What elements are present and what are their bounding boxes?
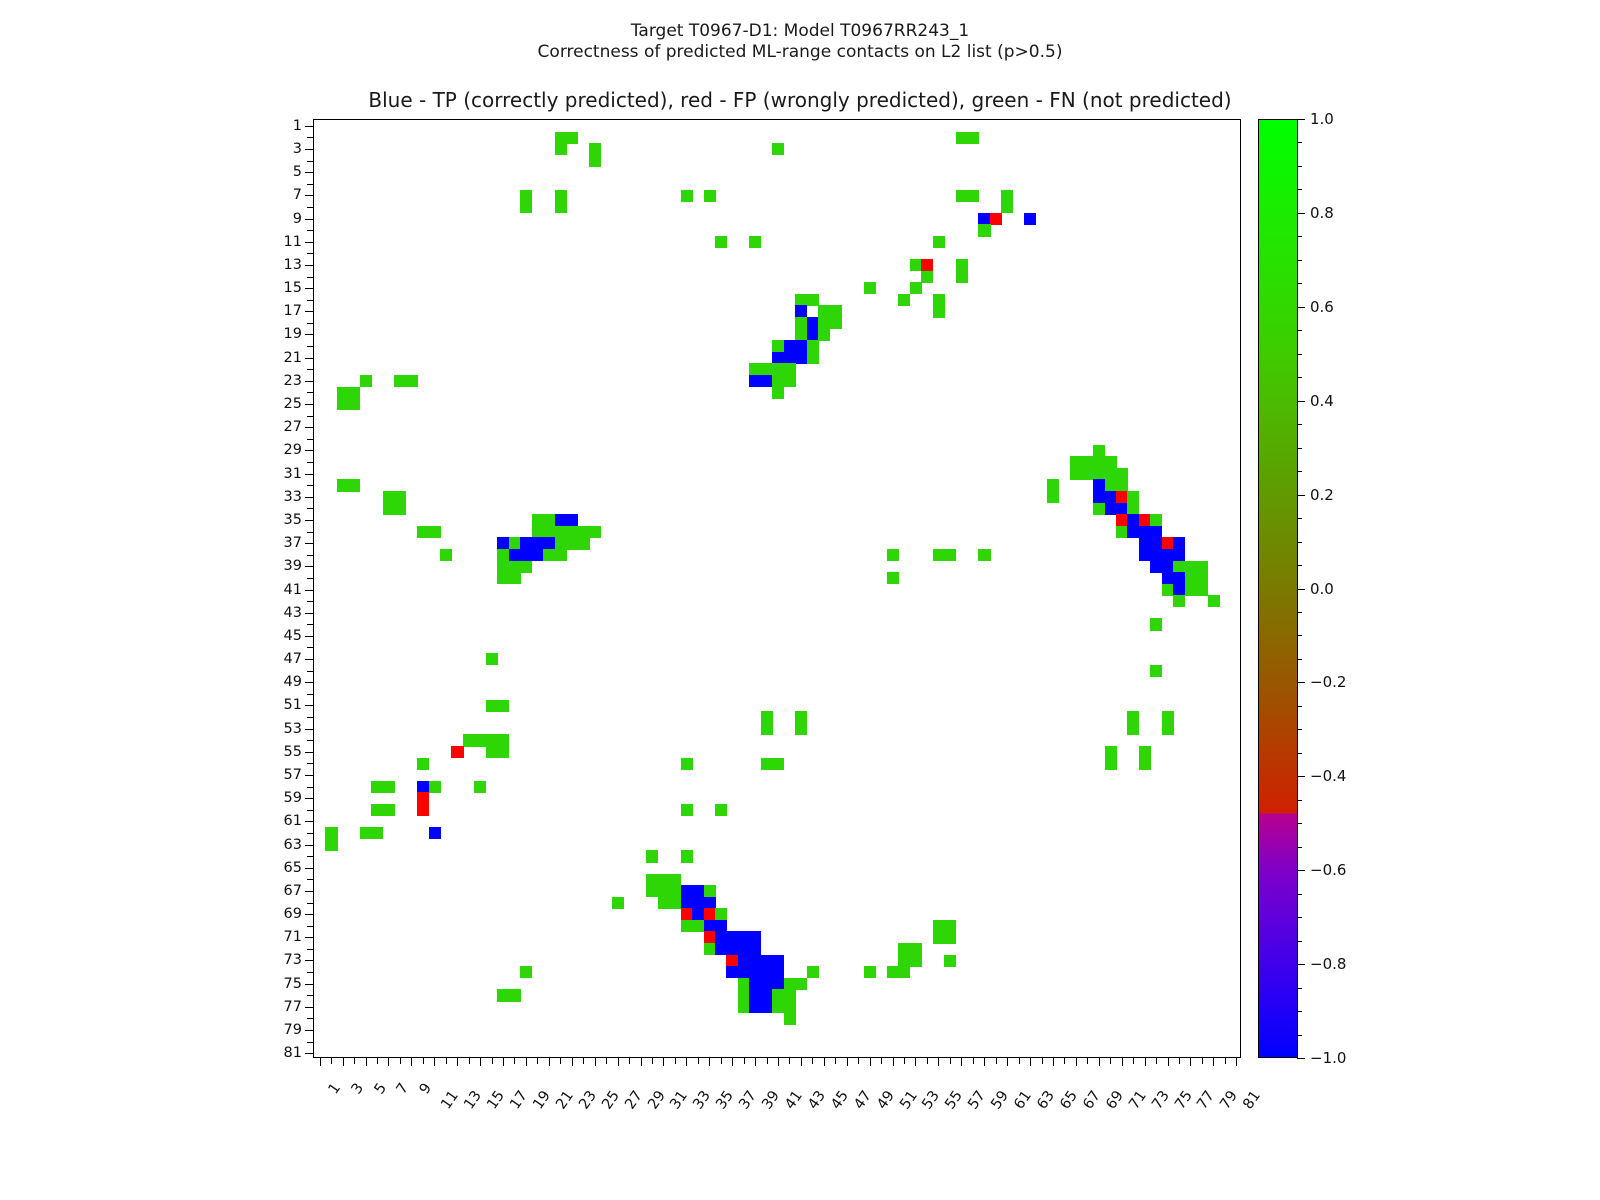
x-tick <box>778 1057 779 1066</box>
y-tick <box>307 833 314 834</box>
heatmap-cell-fn <box>486 734 498 746</box>
heatmap-cell-fp <box>921 259 933 271</box>
y-tick <box>305 149 314 150</box>
x-tick <box>641 1057 642 1066</box>
y-tick-label: 31 <box>284 466 302 482</box>
heatmap-cell-tp <box>761 375 773 387</box>
x-tick-label: 69 <box>1103 1088 1127 1112</box>
x-tick <box>1168 1057 1169 1066</box>
y-tick <box>305 265 314 266</box>
y-tick-label: 19 <box>284 326 302 342</box>
heatmap-cell-fn <box>509 537 521 549</box>
x-tick <box>1236 1057 1237 1066</box>
y-tick <box>305 358 314 359</box>
heatmap-cell-fn <box>772 363 784 375</box>
x-tick <box>698 1057 699 1064</box>
heatmap-cell-tp <box>715 920 727 932</box>
heatmap-cell-fn <box>520 966 532 978</box>
colorbar-minor-tick <box>1297 635 1302 636</box>
y-tick <box>307 184 314 185</box>
heatmap-cell-fn <box>898 955 910 967</box>
heatmap-cell-fn <box>898 294 910 306</box>
colorbar-minor-tick <box>1297 495 1302 496</box>
heatmap-cell-fn <box>1185 584 1197 596</box>
y-tick <box>307 323 314 324</box>
y-tick <box>305 821 314 822</box>
heatmap-cell-tp <box>704 920 716 932</box>
heatmap-cell-fn <box>784 1013 796 1025</box>
heatmap-cell-fn <box>807 966 819 978</box>
y-tick-label: 29 <box>284 442 302 458</box>
x-tick <box>514 1057 515 1064</box>
heatmap-cell-fn <box>348 398 360 410</box>
heatmap-cell-fn <box>532 526 544 538</box>
heatmap-cell-fn <box>1105 746 1117 758</box>
x-tick <box>1042 1057 1043 1064</box>
heatmap-cell-fn <box>646 885 658 897</box>
y-tick <box>305 775 314 776</box>
colorbar-minor-tick <box>1297 1011 1302 1012</box>
y-tick <box>305 1030 314 1031</box>
heatmap-cell-fn <box>1093 503 1105 515</box>
heatmap-cell-fn <box>406 375 418 387</box>
colorbar-minor-tick <box>1297 166 1302 167</box>
heatmap-cell-tp <box>532 549 544 561</box>
heatmap-cell-fn <box>956 190 968 202</box>
heatmap-cell-fn <box>944 920 956 932</box>
x-tick-label: 81 <box>1241 1088 1265 1112</box>
x-tick <box>1030 1057 1031 1066</box>
x-tick-label: 5 <box>371 1081 389 1098</box>
heatmap-cell-fn <box>566 537 578 549</box>
y-tick <box>307 508 314 509</box>
heatmap-cell-fn <box>795 294 807 306</box>
x-tick <box>915 1057 916 1066</box>
y-tick <box>307 624 314 625</box>
heatmap-cell-fn <box>555 526 567 538</box>
y-tick <box>305 613 314 614</box>
heatmap-cell-tp <box>1093 479 1105 491</box>
heatmap-cell-fn <box>704 885 716 897</box>
y-tick-label: 27 <box>284 419 302 435</box>
colorbar-tick-label: 1.0 <box>1310 110 1334 128</box>
heatmap-cell-tp <box>784 352 796 364</box>
heatmap-cell-fn <box>795 723 807 735</box>
y-tick <box>305 682 314 683</box>
x-tick <box>961 1057 962 1066</box>
heatmap-cell-fn <box>543 549 555 561</box>
y-tick <box>307 647 314 648</box>
heatmap-cell-fn <box>681 920 693 932</box>
y-tick-label: 37 <box>284 535 302 551</box>
heatmap-cell-tp <box>1127 514 1139 526</box>
heatmap-cell-tp <box>749 1001 761 1013</box>
heatmap-cell-fn <box>394 491 406 503</box>
heatmap-cell-fn <box>417 758 429 770</box>
heatmap-cell-fp <box>451 746 463 758</box>
heatmap-cell-fn <box>1116 479 1128 491</box>
heatmap-cell-fn <box>497 700 509 712</box>
x-tick <box>549 1057 550 1066</box>
y-tick <box>307 485 314 486</box>
heatmap-cell-fn <box>348 387 360 399</box>
colorbar-minor-tick <box>1297 542 1302 543</box>
y-tick <box>305 960 314 961</box>
heatmap-cell-fn <box>898 943 910 955</box>
heatmap-cell-fn <box>933 920 945 932</box>
heatmap-cell-tp <box>1127 526 1139 538</box>
heatmap-cell-tp <box>555 514 567 526</box>
x-tick-label: 33 <box>691 1088 715 1112</box>
x-tick <box>1099 1057 1100 1066</box>
colorbar <box>1258 119 1298 1058</box>
y-tick-label: 77 <box>284 999 302 1015</box>
x-tick <box>503 1057 504 1066</box>
x-tick <box>595 1057 596 1066</box>
x-tick <box>1202 1057 1203 1064</box>
heatmap-cell-tp <box>1150 526 1162 538</box>
heatmap-cell-fn <box>1139 758 1151 770</box>
heatmap-cell-fn <box>566 526 578 538</box>
y-tick <box>307 137 314 138</box>
x-tick <box>1019 1057 1020 1064</box>
x-tick <box>343 1057 344 1066</box>
heatmap-cell-tp <box>1162 549 1174 561</box>
x-tick-label: 37 <box>736 1088 760 1112</box>
heatmap-cell-fn <box>956 132 968 144</box>
heatmap-cell-fn <box>325 839 337 851</box>
x-tick <box>400 1057 401 1064</box>
x-tick-label: 29 <box>645 1088 669 1112</box>
x-tick-label: 71 <box>1126 1088 1150 1112</box>
y-tick <box>307 230 314 231</box>
y-tick <box>307 879 314 880</box>
y-tick <box>305 845 314 846</box>
y-tick <box>305 334 314 335</box>
heatmap-cell-fn <box>807 340 819 352</box>
x-tick-label: 25 <box>599 1088 623 1112</box>
x-tick <box>984 1057 985 1066</box>
heatmap-cell-fn <box>360 827 372 839</box>
heatmap-cell-fn <box>1105 456 1117 468</box>
heatmap-cell-fp <box>417 804 429 816</box>
heatmap-cell-fn <box>497 561 509 573</box>
y-tick-label: 15 <box>284 280 302 296</box>
x-tick <box>686 1057 687 1066</box>
heatmap-cell-fn <box>555 201 567 213</box>
heatmap-cell-fn <box>830 305 842 317</box>
heatmap-cell-tp <box>761 955 773 967</box>
heatmap-cell-fn <box>1127 491 1139 503</box>
heatmap-cell-tp <box>566 514 578 526</box>
x-tick <box>606 1057 607 1064</box>
heatmap-cell-fn <box>807 294 819 306</box>
heatmap-cell-fn <box>967 132 979 144</box>
colorbar-minor-tick <box>1297 283 1302 284</box>
y-tick-label: 23 <box>284 373 302 389</box>
y-tick-label: 57 <box>284 767 302 783</box>
y-tick <box>307 462 314 463</box>
heatmap-cell-fn <box>692 920 704 932</box>
heatmap-cell-fn <box>715 236 727 248</box>
y-tick <box>307 601 314 602</box>
heatmap-cell-fn <box>681 758 693 770</box>
y-tick <box>305 450 314 451</box>
x-tick-label: 35 <box>714 1088 738 1112</box>
heatmap-cell-tp <box>795 305 807 317</box>
colorbar-minor-tick <box>1297 870 1302 871</box>
heatmap-cell-fn <box>474 734 486 746</box>
x-tick-label: 21 <box>553 1088 577 1112</box>
heatmap-cell-fn <box>1196 561 1208 573</box>
heatmap-cell-tp <box>520 537 532 549</box>
heatmap-cell-fn <box>543 526 555 538</box>
x-tick-label: 19 <box>530 1088 554 1112</box>
heatmap-cell-tp <box>749 375 761 387</box>
x-tick <box>583 1057 584 1064</box>
heatmap-cell-fn <box>1139 746 1151 758</box>
heatmap-cell-tp <box>784 340 796 352</box>
colorbar-minor-tick <box>1297 589 1302 590</box>
y-tick <box>307 926 314 927</box>
heatmap-cell-fn <box>738 1001 750 1013</box>
x-tick-label: 31 <box>668 1088 692 1112</box>
heatmap-cell-fn <box>497 572 509 584</box>
y-tick-label: 61 <box>284 813 302 829</box>
heatmap-cell-tp <box>1139 549 1151 561</box>
y-tick <box>307 972 314 973</box>
heatmap-cell-fn <box>612 897 624 909</box>
heatmap-cell-tp <box>738 943 750 955</box>
heatmap-cell-fp <box>1116 491 1128 503</box>
y-tick-label: 5 <box>293 164 302 180</box>
x-tick-label: 51 <box>897 1088 921 1112</box>
heatmap-cell-fn <box>509 989 521 1001</box>
colorbar-minor-tick <box>1297 142 1302 143</box>
heatmap-cell-tp <box>1162 572 1174 584</box>
colorbar-gradient <box>1259 120 1297 1057</box>
heatmap-cell-tp <box>509 549 521 561</box>
x-tick <box>1145 1057 1146 1066</box>
heatmap-cell-fn <box>956 259 968 271</box>
colorbar-minor-tick <box>1297 753 1302 754</box>
heatmap-cell-tp <box>715 931 727 943</box>
y-tick <box>307 161 314 162</box>
heatmap-cell-fn <box>394 503 406 515</box>
heatmap-cell-tp <box>726 943 738 955</box>
y-tick <box>305 636 314 637</box>
y-tick-label: 35 <box>284 512 302 528</box>
heatmap-cell-tp <box>429 827 441 839</box>
colorbar-minor-tick <box>1297 471 1302 472</box>
heatmap-cell-tp <box>692 885 704 897</box>
heatmap-cell-tp <box>1116 503 1128 515</box>
y-tick <box>305 172 314 173</box>
y-tick <box>307 439 314 440</box>
colorbar-minor-tick <box>1297 729 1302 730</box>
heatmap-cell-tp <box>1150 549 1162 561</box>
x-tick <box>411 1057 412 1066</box>
colorbar-tick-label: 0.8 <box>1310 204 1334 222</box>
heatmap-cell-fn <box>864 966 876 978</box>
heatmap-cell-fn <box>784 375 796 387</box>
y-tick <box>305 566 314 567</box>
heatmap-cell-fn <box>1127 711 1139 723</box>
heatmap-cell-tp <box>532 537 544 549</box>
heatmap-cell-fn <box>1082 468 1094 480</box>
y-tick-label: 3 <box>293 141 302 157</box>
heatmap-cell-tp <box>795 340 807 352</box>
x-tick-label: 1 <box>325 1081 343 1098</box>
y-tick-label: 51 <box>284 697 302 713</box>
heatmap-cell-fn <box>910 259 922 271</box>
colorbar-minor-tick <box>1297 1058 1302 1059</box>
y-tick <box>307 810 314 811</box>
y-tick <box>307 903 314 904</box>
y-tick <box>305 126 314 127</box>
y-tick-label: 69 <box>284 906 302 922</box>
y-tick <box>305 381 314 382</box>
heatmap-cell-fn <box>1116 526 1128 538</box>
heatmap-cell-tp <box>1173 584 1185 596</box>
heatmap-cell-fn <box>474 781 486 793</box>
heatmap-cell-tp <box>772 955 784 967</box>
heatmap-cell-fn <box>669 874 681 886</box>
x-tick <box>881 1057 882 1064</box>
x-tick <box>996 1057 997 1064</box>
x-tick <box>675 1057 676 1064</box>
heatmap-cell-fn <box>371 804 383 816</box>
heatmap-cell-fn <box>532 514 544 526</box>
x-tick <box>732 1057 733 1066</box>
y-tick <box>307 671 314 672</box>
heatmap-cell-fn <box>509 572 521 584</box>
heatmap-cell-fn <box>1070 456 1082 468</box>
y-tick <box>307 253 314 254</box>
heatmap-cell-fn <box>337 479 349 491</box>
heatmap-cell-fn <box>486 700 498 712</box>
heatmap-cell-fn <box>589 526 601 538</box>
heatmap-cell-fn <box>360 375 372 387</box>
x-tick-label: 57 <box>966 1088 990 1112</box>
heatmap-cell-fn <box>704 943 716 955</box>
heatmap-cell-fn <box>772 340 784 352</box>
colorbar-minor-tick <box>1297 236 1302 237</box>
colorbar-tick-label: −0.8 <box>1310 955 1346 973</box>
heatmap-cell-fn <box>704 190 716 202</box>
colorbar-minor-tick <box>1297 823 1302 824</box>
colorbar-minor-tick <box>1297 213 1302 214</box>
heatmap-cell-fn <box>589 143 601 155</box>
heatmap-cell-fn <box>566 132 578 144</box>
heatmap-cell-fn <box>1105 479 1117 491</box>
colorbar-minor-tick <box>1297 518 1302 519</box>
heatmap-cell-tp <box>692 897 704 909</box>
heatmap-cell-fn <box>463 734 475 746</box>
x-tick <box>1190 1057 1191 1066</box>
x-tick <box>537 1057 538 1064</box>
y-tick-label: 49 <box>284 674 302 690</box>
x-tick-label: 53 <box>920 1088 944 1112</box>
heatmap-cell-fn <box>1116 468 1128 480</box>
heatmap-cell-fn <box>1082 456 1094 468</box>
y-tick <box>307 369 314 370</box>
x-tick <box>377 1057 378 1064</box>
heatmap-cell-fn <box>898 966 910 978</box>
y-tick <box>307 416 314 417</box>
heatmap-cell-tp <box>761 978 773 990</box>
y-tick-label: 53 <box>284 721 302 737</box>
colorbar-minor-tick <box>1297 189 1302 190</box>
heatmap-cell-fn <box>1173 595 1185 607</box>
heatmap-cell-fn <box>818 305 830 317</box>
heatmap-cell-fn <box>1001 190 1013 202</box>
y-tick <box>305 242 314 243</box>
heatmap-cell-fn <box>486 746 498 758</box>
x-tick <box>331 1057 332 1064</box>
heatmap-cell-fn <box>761 363 773 375</box>
heatmap-cell-tp <box>1162 561 1174 573</box>
x-tick <box>858 1057 859 1064</box>
heatmap-cell-fn <box>1127 723 1139 735</box>
heatmap-cell-tp <box>681 885 693 897</box>
colorbar-tick-label: −0.4 <box>1310 767 1346 785</box>
colorbar-minor-tick <box>1297 354 1302 355</box>
heatmap-cell-fn <box>749 363 761 375</box>
heatmap-cell-fn <box>520 201 532 213</box>
heatmap-cell-fn <box>1105 758 1117 770</box>
heatmap-cell-fn <box>1185 572 1197 584</box>
y-tick <box>305 984 314 985</box>
y-tick <box>307 532 314 533</box>
x-tick <box>457 1057 458 1066</box>
heatmap-cell-fn <box>669 897 681 909</box>
heatmap-cell-fn <box>371 827 383 839</box>
x-tick-label: 17 <box>507 1088 531 1112</box>
heatmap-cell-fn <box>1093 445 1105 457</box>
x-tick <box>1133 1057 1134 1064</box>
colorbar-minor-tick <box>1297 612 1302 613</box>
heatmap-cell-fn <box>658 897 670 909</box>
heatmap-cell-fp <box>704 931 716 943</box>
heatmap-cell-fn <box>429 526 441 538</box>
heatmap-cell-fn <box>887 549 899 561</box>
heatmap-cell-fn <box>383 491 395 503</box>
heatmap-cell-fn <box>578 526 590 538</box>
heatmap-cell-tp <box>692 908 704 920</box>
x-tick <box>1053 1057 1054 1066</box>
heatmap-cell-fn <box>658 885 670 897</box>
colorbar-minor-tick <box>1297 659 1302 660</box>
x-tick <box>572 1057 573 1066</box>
heatmap-cell-fn <box>497 734 509 746</box>
heatmap-cell-fn <box>1150 618 1162 630</box>
heatmap-cell-fn <box>383 804 395 816</box>
x-tick-label: 79 <box>1218 1088 1242 1112</box>
heatmap-cell-fn <box>887 966 899 978</box>
heatmap-cell-tp <box>1105 503 1117 515</box>
y-tick-label: 25 <box>284 396 302 412</box>
x-tick <box>1007 1057 1008 1066</box>
y-tick-label: 65 <box>284 860 302 876</box>
y-tick <box>305 752 314 753</box>
y-tick <box>305 590 314 591</box>
figure-subtitle: Correctness of predicted ML-range contac… <box>0 42 1600 62</box>
heatmap-cell-fn <box>772 989 784 1001</box>
x-tick <box>1179 1057 1180 1064</box>
heatmap-cell-tp <box>978 213 990 225</box>
x-tick-label: 59 <box>989 1088 1013 1112</box>
